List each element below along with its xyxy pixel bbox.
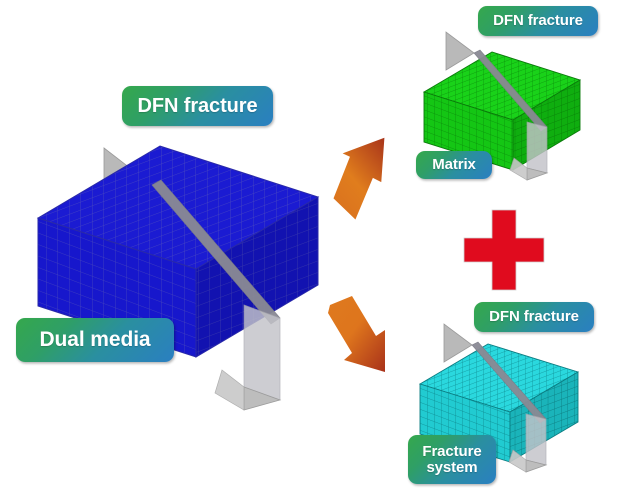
label-dfn-fracture-main-text: DFN fracture [138, 96, 258, 117]
label-dfn-fracture-main[interactable]: DFN fracture [122, 86, 273, 126]
label-fracture-system-line2: system [426, 460, 477, 476]
label-fracture-system[interactable]: Fracture system [408, 435, 496, 484]
label-dfn-fracture-matrix-text: DFN fracture [493, 13, 583, 29]
dfn-fracture-plane-matrix-rear [446, 32, 474, 70]
arrow-to-fracture-system [328, 296, 385, 372]
diagram-graphics [0, 0, 624, 496]
label-matrix[interactable]: Matrix [416, 151, 492, 179]
label-dual-media[interactable]: Dual media [16, 318, 174, 362]
dual-media-block [38, 146, 318, 410]
label-dual-media-text: Dual media [39, 329, 150, 351]
label-dfn-fracture-matrix[interactable]: DFN fracture [478, 6, 598, 36]
diagram-canvas: DFN fracture Dual media DFN fracture Mat… [0, 0, 624, 496]
label-fracture-system-line1: Fracture [422, 444, 481, 460]
label-matrix-text: Matrix [432, 157, 476, 173]
arrow-to-matrix [329, 138, 392, 222]
label-dfn-fracture-fracture-system[interactable]: DFN fracture [474, 302, 594, 332]
plus-sign [464, 210, 544, 290]
label-dfn-fracture-fracture-system-text: DFN fracture [489, 309, 579, 325]
